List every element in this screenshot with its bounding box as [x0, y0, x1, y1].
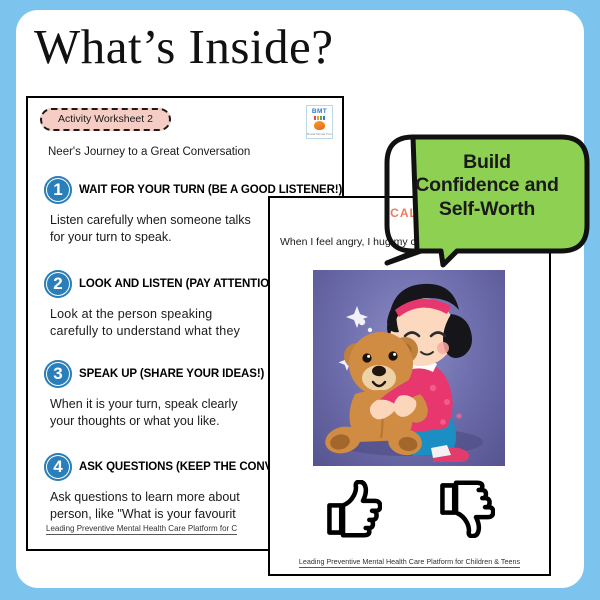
- step-2-heading: 2 LOOK AND LISTEN (PAY ATTENTION!): [44, 270, 285, 298]
- worksheet-step-2: 2 LOOK AND LISTEN (PAY ATTENTION!) Look …: [44, 270, 285, 340]
- step-1-title: WAIT FOR YOUR TURN (BE A GOOD LISTENER!): [79, 184, 342, 196]
- bmt-logo-word: BMT: [312, 108, 327, 115]
- thumbs-row: [270, 480, 549, 538]
- bmt-logo-flame-icon: [314, 121, 325, 130]
- worksheet-subtitle: Neer's Journey to a Great Conversation: [48, 146, 250, 158]
- bmt-logo-icon: BMT Bharat Mental Trust: [306, 105, 333, 139]
- worksheet-step-3: 3 SPEAK UP (SHARE YOUR IDEAS!) When it i…: [44, 360, 264, 430]
- worksheet-1-footer: Leading Preventive Mental Health Care Pl…: [46, 524, 237, 535]
- worksheet-2-footer-text: Leading Preventive Mental Health Care Pl…: [299, 557, 520, 568]
- step-4-body: Ask questions to learn more about person…: [50, 489, 296, 523]
- step-3-heading: 3 SPEAK UP (SHARE YOUR IDEAS!): [44, 360, 264, 388]
- step-3-number-badge: 3: [44, 360, 72, 388]
- step-3-title: SPEAK UP (SHARE YOUR IDEAS!): [79, 368, 264, 380]
- step-2-body: Look at the person speaking carefully to…: [50, 306, 285, 340]
- page-title: What’s Inside?: [34, 22, 334, 71]
- girl-hugging-teddy-bear-illustration: [313, 270, 505, 466]
- step-2-title: LOOK AND LISTEN (PAY ATTENTION!): [79, 278, 285, 290]
- callout-speech-bubble: Build Confidence and Self-Worth: [383, 133, 591, 273]
- activity-badge: Activity Worksheet 2: [40, 108, 171, 131]
- step-1-number-badge: 1: [44, 176, 72, 204]
- step-2-number-badge: 2: [44, 270, 72, 298]
- bmt-logo-subtext: Bharat Mental Trust: [306, 132, 332, 136]
- thumbs-up-icon[interactable]: [324, 480, 382, 538]
- step-3-body: When it is your turn, speak clearly your…: [50, 396, 264, 430]
- bmt-logo-bars: [314, 116, 325, 120]
- worksheet-step-4: 4 ASK QUESTIONS (KEEP THE CONVERS Ask qu…: [44, 453, 296, 523]
- step-4-heading: 4 ASK QUESTIONS (KEEP THE CONVERS: [44, 453, 296, 481]
- step-4-title: ASK QUESTIONS (KEEP THE CONVERS: [79, 461, 296, 473]
- step-4-number-badge: 4: [44, 453, 72, 481]
- worksheet-2-footer: Leading Preventive Mental Health Care Pl…: [270, 557, 549, 566]
- screenshot-root: What’s Inside? Activity Worksheet 2 BMT …: [0, 0, 600, 600]
- callout-text: Build Confidence and Self-Worth: [391, 151, 583, 221]
- thumbs-down-icon[interactable]: [437, 480, 495, 538]
